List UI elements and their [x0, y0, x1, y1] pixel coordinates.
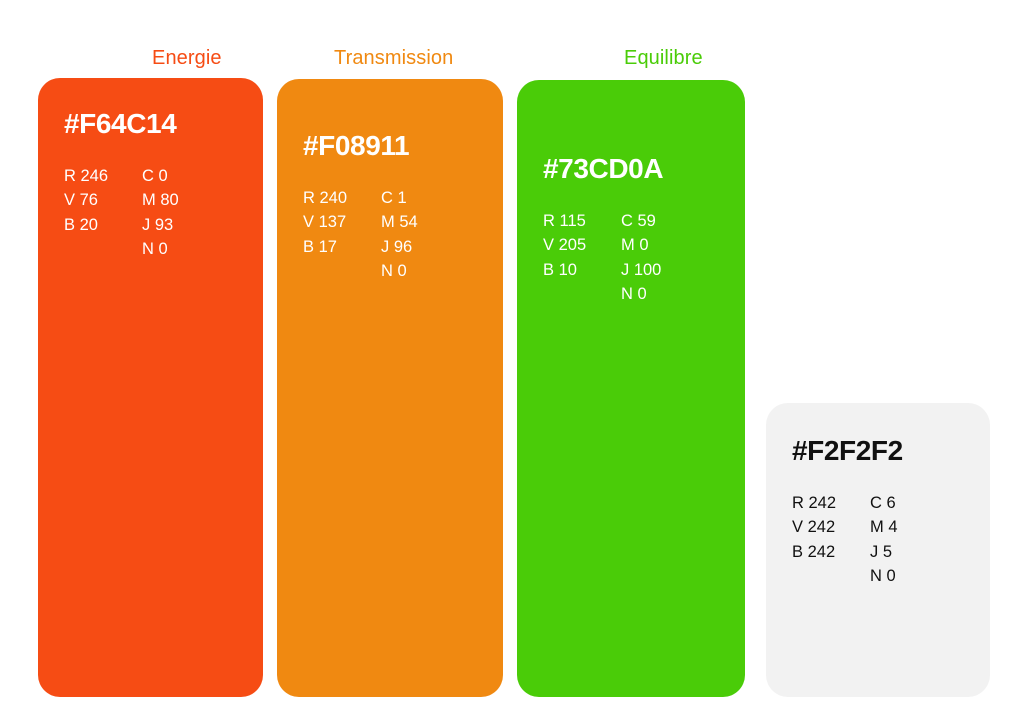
rgb-red: R 115 — [543, 209, 621, 233]
rgb-blue: B 242 — [792, 540, 870, 564]
cmyk-yellow: J 100 — [621, 258, 701, 282]
rgb-red: R 240 — [303, 186, 381, 210]
rgb-green: V 242 — [792, 515, 870, 539]
swatch-cmyk-neutre: C 6 M 4 J 5 N 0 — [870, 491, 950, 588]
rgb-green: V 205 — [543, 233, 621, 257]
swatch-rgb-transmission: R 240 V 137 B 17 — [303, 186, 381, 259]
rgb-blue: B 10 — [543, 258, 621, 282]
swatch-card-transmission[interactable]: #F08911 R 240 V 137 B 17 C 1 M 54 J 96 N… — [277, 79, 503, 697]
rgb-green: V 76 — [64, 188, 142, 212]
cmyk-cyan: C 6 — [870, 491, 950, 515]
swatch-content-neutre: #F2F2F2 R 242 V 242 B 242 C 6 M 4 J 5 N … — [792, 437, 976, 588]
swatch-hex-transmission: #F08911 — [303, 132, 489, 160]
cmyk-black: N 0 — [621, 282, 701, 306]
swatch-rgb-neutre: R 242 V 242 B 242 — [792, 491, 870, 564]
rgb-blue: B 17 — [303, 235, 381, 259]
rgb-green: V 137 — [303, 210, 381, 234]
rgb-blue: B 20 — [64, 213, 142, 237]
cmyk-magenta: M 54 — [381, 210, 461, 234]
swatch-hex-equilibre: #73CD0A — [543, 155, 731, 183]
swatch-values-neutre: R 242 V 242 B 242 C 6 M 4 J 5 N 0 — [792, 491, 976, 588]
swatch-card-energie[interactable]: #F64C14 R 246 V 76 B 20 C 0 M 80 J 93 N … — [38, 78, 263, 697]
swatch-hex-energie: #F64C14 — [64, 110, 249, 138]
cmyk-magenta: M 0 — [621, 233, 701, 257]
swatch-cmyk-energie: C 0 M 80 J 93 N 0 — [142, 164, 222, 261]
swatch-content-transmission: #F08911 R 240 V 137 B 17 C 1 M 54 J 96 N… — [303, 132, 489, 283]
rgb-red: R 242 — [792, 491, 870, 515]
swatch-values-energie: R 246 V 76 B 20 C 0 M 80 J 93 N 0 — [64, 164, 249, 261]
cmyk-magenta: M 4 — [870, 515, 950, 539]
cmyk-yellow: J 93 — [142, 213, 222, 237]
swatch-content-energie: #F64C14 R 246 V 76 B 20 C 0 M 80 J 93 N … — [64, 110, 249, 261]
cmyk-yellow: J 96 — [381, 235, 461, 259]
swatch-values-equilibre: R 115 V 205 B 10 C 59 M 0 J 100 N 0 — [543, 209, 731, 306]
cmyk-magenta: M 80 — [142, 188, 222, 212]
swatch-cmyk-transmission: C 1 M 54 J 96 N 0 — [381, 186, 461, 283]
cmyk-yellow: J 5 — [870, 540, 950, 564]
swatch-cmyk-equilibre: C 59 M 0 J 100 N 0 — [621, 209, 701, 306]
swatch-rgb-equilibre: R 115 V 205 B 10 — [543, 209, 621, 282]
swatch-label-equilibre: Equilibre — [624, 48, 703, 68]
swatch-values-transmission: R 240 V 137 B 17 C 1 M 54 J 96 N 0 — [303, 186, 489, 283]
swatch-content-equilibre: #73CD0A R 115 V 205 B 10 C 59 M 0 J 100 … — [543, 155, 731, 306]
cmyk-black: N 0 — [142, 237, 222, 261]
swatch-card-equilibre[interactable]: #73CD0A R 115 V 205 B 10 C 59 M 0 J 100 … — [517, 80, 745, 697]
rgb-red: R 246 — [64, 164, 142, 188]
cmyk-cyan: C 0 — [142, 164, 222, 188]
swatch-label-energie: Energie — [152, 48, 222, 68]
cmyk-cyan: C 59 — [621, 209, 701, 233]
swatch-hex-neutre: #F2F2F2 — [792, 437, 976, 465]
cmyk-black: N 0 — [381, 259, 461, 283]
swatch-label-transmission: Transmission — [334, 48, 453, 68]
swatch-rgb-energie: R 246 V 76 B 20 — [64, 164, 142, 237]
cmyk-black: N 0 — [870, 564, 950, 588]
cmyk-cyan: C 1 — [381, 186, 461, 210]
swatch-card-neutre[interactable]: #F2F2F2 R 242 V 242 B 242 C 6 M 4 J 5 N … — [766, 403, 990, 697]
color-palette: Energie #F64C14 R 246 V 76 B 20 C 0 M 80… — [0, 0, 1024, 723]
